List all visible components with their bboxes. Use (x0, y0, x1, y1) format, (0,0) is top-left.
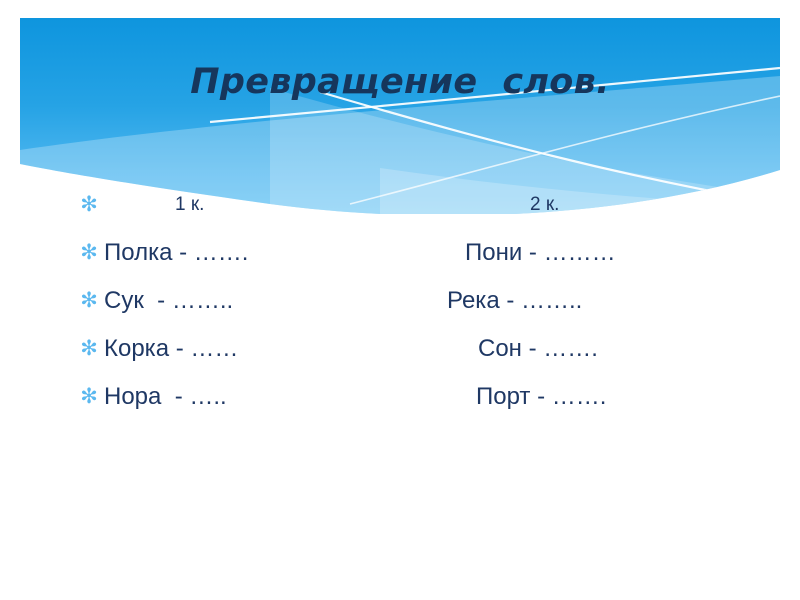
asterisk-bullet-icon: ✻ (80, 242, 98, 263)
list-item: ✻ 1 к. 2 к. (0, 190, 800, 238)
list-item: ✻ Сук - …….. Река - …….. (0, 286, 800, 334)
word-prompt-right: Река - …….. (447, 286, 582, 316)
column-2-heading: 2 к. (530, 190, 559, 220)
list-item: ✻ Корка - …… Сон - ……. (0, 334, 800, 382)
word-prompt-right: Сон - ……. (478, 334, 598, 364)
word-prompt-left: Нора - ….. (104, 382, 227, 412)
slide-title: Превращение слов. (0, 62, 800, 102)
asterisk-bullet-icon: ✻ (80, 290, 98, 311)
header-banner-decoration (20, 18, 780, 214)
content-list: ✻ 1 к. 2 к. ✻ Полка - ……. Пони - ……… ✻ С… (0, 190, 800, 430)
asterisk-bullet-icon: ✻ (80, 386, 98, 407)
list-item: ✻ Полка - ……. Пони - ……… (0, 238, 800, 286)
word-prompt-left: Сук - …….. (104, 286, 233, 316)
word-prompt-left: Полка - ……. (104, 238, 248, 268)
asterisk-bullet-icon: ✻ (80, 194, 98, 215)
word-prompt-right: Пони - ……… (465, 238, 616, 268)
list-item: ✻ Нора - ….. Порт - ……. (0, 382, 800, 430)
word-prompt-left: Корка - …… (104, 334, 238, 364)
asterisk-bullet-icon: ✻ (80, 338, 98, 359)
slide: Превращение слов. ✻ 1 к. 2 к. ✻ Полка - … (0, 0, 800, 600)
column-1-heading: 1 к. (175, 190, 204, 220)
word-prompt-right: Порт - ……. (476, 382, 606, 412)
